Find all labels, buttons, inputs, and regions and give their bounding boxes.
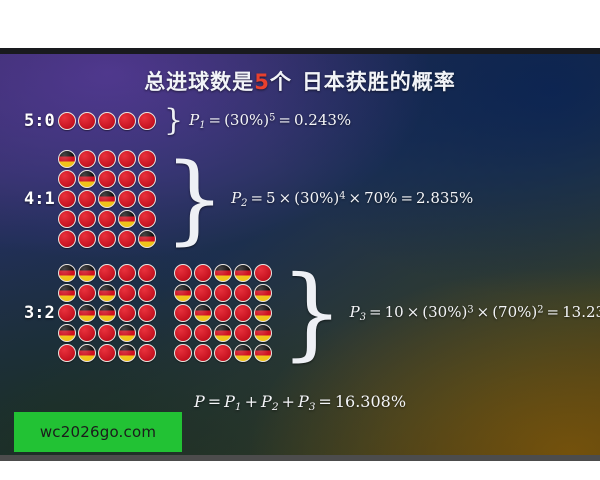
- ball-japan: [194, 264, 212, 282]
- ball-japan: [138, 324, 156, 342]
- curly-brace-icon: }: [164, 158, 225, 241]
- title-suffix: 日本获胜的概率: [302, 70, 456, 94]
- total-p3-symbol: P: [298, 392, 309, 411]
- ball-japan: [174, 344, 192, 362]
- formula-p2-term2: 70%: [364, 189, 397, 207]
- formula-p2-coefficient: 5: [266, 189, 276, 207]
- total-plus2: +: [279, 392, 298, 411]
- ball-grid-row: [58, 150, 156, 168]
- ball-germany: [174, 284, 192, 302]
- curly-brace-icon: }: [164, 108, 183, 134]
- ball-grid-3-2-right: [174, 264, 272, 362]
- ball-japan: [58, 112, 76, 130]
- formula-p3-symbol: P: [350, 303, 360, 321]
- watermark-label: wc2026go.com: [40, 423, 156, 441]
- formula-p2-symbol: P: [231, 189, 241, 207]
- ball-japan: [194, 324, 212, 342]
- slide-bottom-edge: [0, 455, 600, 461]
- formula-p3-coefficient: 10: [385, 303, 404, 321]
- ball-japan: [174, 324, 192, 342]
- ball-japan: [234, 324, 252, 342]
- ball-grid-row: [58, 210, 156, 228]
- ball-japan: [194, 284, 212, 302]
- ball-japan: [58, 304, 76, 322]
- ball-japan: [138, 170, 156, 188]
- ball-germany: [254, 344, 272, 362]
- ball-japan: [78, 112, 96, 130]
- ball-japan: [58, 190, 76, 208]
- formula-p2-term1: (30%): [294, 189, 339, 207]
- total-p2-symbol: P: [261, 392, 272, 411]
- watermark-badge[interactable]: wc2026go.com: [14, 412, 182, 452]
- ball-japan: [138, 112, 156, 130]
- ball-japan: [98, 170, 116, 188]
- formula-p3-term1: (30%): [422, 303, 467, 321]
- ball-grid-row: [174, 324, 272, 342]
- total-result: 16.308%: [335, 392, 406, 411]
- formula-p3-result: 13.23%: [562, 303, 600, 321]
- ball-japan: [118, 264, 136, 282]
- ball-japan: [138, 264, 156, 282]
- formula-p2: P2=5×(30%)4×70%=2.835%: [231, 189, 473, 209]
- formula-p2-times1: ×: [276, 189, 295, 207]
- ball-germany: [254, 324, 272, 342]
- ball-japan: [98, 210, 116, 228]
- ball-japan: [78, 190, 96, 208]
- ball-germany: [118, 210, 136, 228]
- ball-japan: [214, 344, 232, 362]
- scenario-row-5-0: 5:0 } P1=(30%)5=0.243%: [0, 108, 351, 134]
- total-equals2: =: [315, 392, 334, 411]
- formula-p3-times2: ×: [474, 303, 493, 321]
- ball-japan: [118, 150, 136, 168]
- ball-japan: [98, 344, 116, 362]
- ball-japan: [118, 284, 136, 302]
- ball-japan: [174, 304, 192, 322]
- ball-germany: [118, 344, 136, 362]
- ball-japan: [138, 304, 156, 322]
- ball-germany: [254, 304, 272, 322]
- formula-p3-term2: (70%): [492, 303, 537, 321]
- ball-germany: [58, 284, 76, 302]
- total-equals: =: [205, 392, 224, 411]
- ball-japan: [58, 344, 76, 362]
- formula-p3-exponent2: 2: [537, 304, 543, 315]
- ball-japan: [118, 170, 136, 188]
- ball-grid-row: [174, 284, 272, 302]
- formula-p2-equals2: =: [397, 189, 416, 207]
- ball-japan: [98, 324, 116, 342]
- ball-germany: [78, 304, 96, 322]
- ball-japan: [78, 230, 96, 248]
- ball-japan: [234, 304, 252, 322]
- ball-grid-row: [58, 170, 156, 188]
- title-highlight-number: 5: [254, 70, 270, 94]
- formula-p3-equals: =: [366, 303, 385, 321]
- ball-germany: [194, 304, 212, 322]
- curly-brace-icon: }: [280, 270, 344, 356]
- ball-grid-row: [58, 112, 156, 130]
- total-p1-symbol: P: [224, 392, 235, 411]
- ball-japan: [58, 170, 76, 188]
- ball-japan: [78, 324, 96, 342]
- formula-p3-equals2: =: [544, 303, 563, 321]
- ball-japan: [138, 150, 156, 168]
- ball-japan: [194, 344, 212, 362]
- ball-germany: [98, 190, 116, 208]
- ball-germany: [234, 344, 252, 362]
- ball-grid-row: [58, 284, 156, 302]
- ball-japan: [78, 150, 96, 168]
- score-label-4-1: 4:1: [0, 189, 58, 209]
- slide-top-edge: [0, 48, 600, 54]
- ball-germany: [118, 324, 136, 342]
- ball-japan: [138, 344, 156, 362]
- ball-japan: [118, 304, 136, 322]
- ball-germany: [98, 304, 116, 322]
- formula-p1: P1=(30%)5=0.243%: [189, 111, 351, 131]
- ball-grid-4-1: [58, 150, 156, 248]
- ball-japan: [214, 284, 232, 302]
- ball-japan: [118, 190, 136, 208]
- total-plus1: +: [242, 392, 261, 411]
- ball-grid-3-2-left: [58, 264, 156, 362]
- formula-p2-result: 2.835%: [416, 189, 473, 207]
- ball-japan: [98, 112, 116, 130]
- ball-japan: [254, 264, 272, 282]
- ball-japan: [138, 284, 156, 302]
- ball-germany: [58, 324, 76, 342]
- ball-germany: [214, 264, 232, 282]
- ball-japan: [58, 210, 76, 228]
- ball-japan: [214, 304, 232, 322]
- ball-japan: [98, 150, 116, 168]
- ball-germany: [138, 230, 156, 248]
- formula-p2-exponent1: 4: [339, 190, 345, 201]
- total-p-symbol: P: [194, 392, 205, 411]
- ball-germany: [78, 170, 96, 188]
- formula-p2-times2: ×: [346, 189, 365, 207]
- ball-grid-row: [58, 324, 156, 342]
- ball-germany: [234, 264, 252, 282]
- scenario-row-4-1: 4:1 } P2=5×(30%)4×70%=2.835%: [0, 150, 473, 248]
- ball-grid-row: [58, 230, 156, 248]
- ball-germany: [98, 284, 116, 302]
- formula-p1-result: 0.243%: [294, 111, 351, 129]
- formula-p1-symbol: P: [189, 111, 199, 129]
- ball-grid-5-0: [58, 112, 156, 130]
- slide-image: 总进球数是5个日本获胜的概率 5:0 } P1=(30%)5=0.243% 4:…: [0, 48, 600, 461]
- ball-japan: [118, 112, 136, 130]
- ball-grid-row: [174, 344, 272, 362]
- ball-japan: [234, 284, 252, 302]
- screenshot-root: 总进球数是5个日本获胜的概率 5:0 } P1=(30%)5=0.243% 4:…: [0, 0, 600, 480]
- page-bottom-area: [0, 461, 600, 480]
- ball-grid-row: [174, 264, 272, 282]
- ball-japan: [118, 230, 136, 248]
- formula-p3-exponent1: 3: [467, 304, 473, 315]
- ball-germany: [254, 284, 272, 302]
- ball-grid-row: [58, 304, 156, 322]
- score-label-3-2: 3:2: [0, 303, 58, 323]
- formula-total: P=P1+P2+P3=16.308%: [0, 392, 600, 413]
- formula-p3: P3=10×(30%)3×(70%)2=13.23%: [350, 303, 600, 323]
- formula-p1-equals: =: [205, 111, 224, 129]
- ball-grid-row: [174, 304, 272, 322]
- ball-japan: [78, 284, 96, 302]
- ball-grid-row: [58, 190, 156, 208]
- total-p2-index: 2: [272, 401, 279, 413]
- formula-p1-equals2: =: [275, 111, 294, 129]
- ball-japan: [174, 264, 192, 282]
- ball-germany: [58, 150, 76, 168]
- ball-grid-pair-3-2: [58, 264, 272, 362]
- formula-p2-equals: =: [247, 189, 266, 207]
- ball-japan: [138, 190, 156, 208]
- title-prefix: 总进球数是: [144, 70, 254, 94]
- total-p1-index: 1: [235, 401, 242, 413]
- scenario-row-3-2: 3:2 } P3=10×(30%)3×(70%)2=13.23%: [0, 264, 600, 362]
- formula-p1-term: (30%): [224, 111, 269, 129]
- formula-p3-times1: ×: [404, 303, 423, 321]
- title-middle: 个: [270, 70, 292, 94]
- ball-germany: [58, 264, 76, 282]
- ball-japan: [98, 264, 116, 282]
- ball-japan: [138, 210, 156, 228]
- ball-grid-row: [58, 264, 156, 282]
- ball-germany: [78, 344, 96, 362]
- ball-japan: [78, 210, 96, 228]
- ball-japan: [58, 230, 76, 248]
- score-label-5-0: 5:0: [0, 111, 58, 131]
- ball-germany: [78, 264, 96, 282]
- page-title: 总进球数是5个日本获胜的概率: [0, 66, 600, 96]
- ball-japan: [98, 230, 116, 248]
- ball-grid-row: [58, 344, 156, 362]
- ball-germany: [214, 324, 232, 342]
